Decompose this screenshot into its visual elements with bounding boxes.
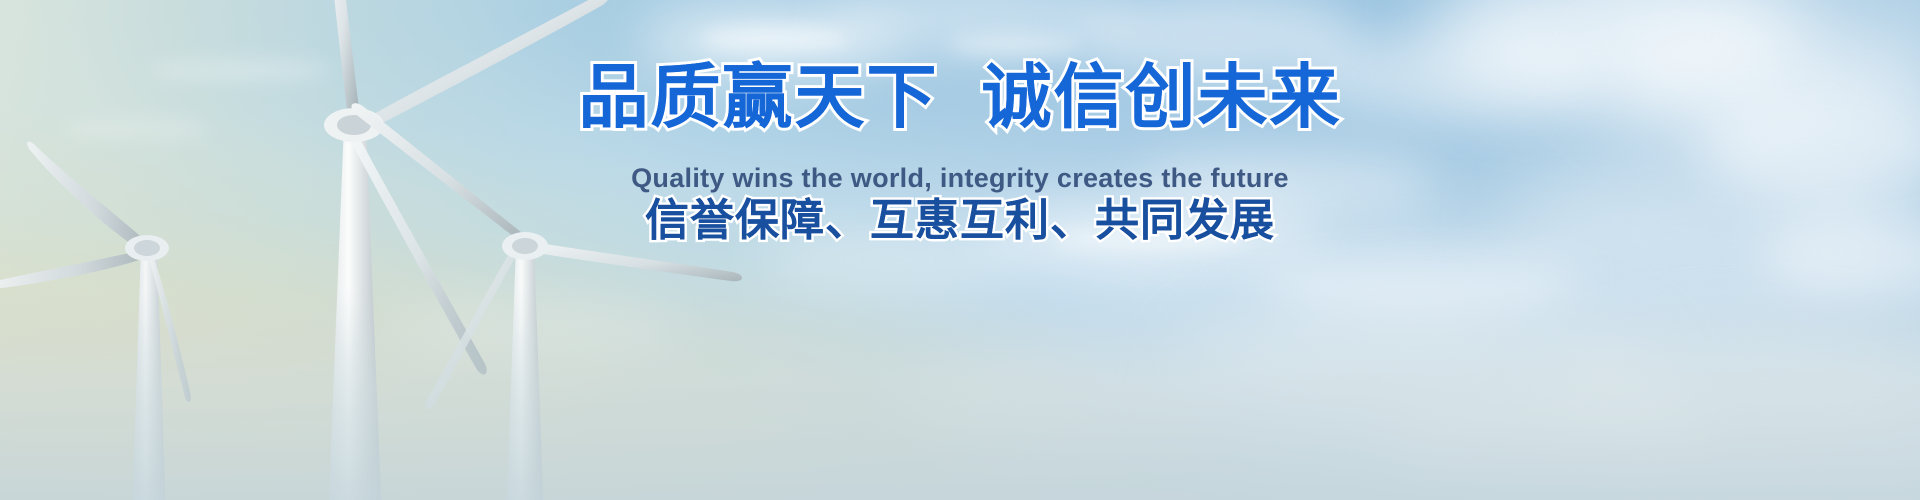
- sky-bottom-haze: [0, 290, 1920, 500]
- promo-banner: 品质赢天下 诚信创未来 品质赢天下 诚信创未来 Quality wins the…: [0, 0, 1920, 500]
